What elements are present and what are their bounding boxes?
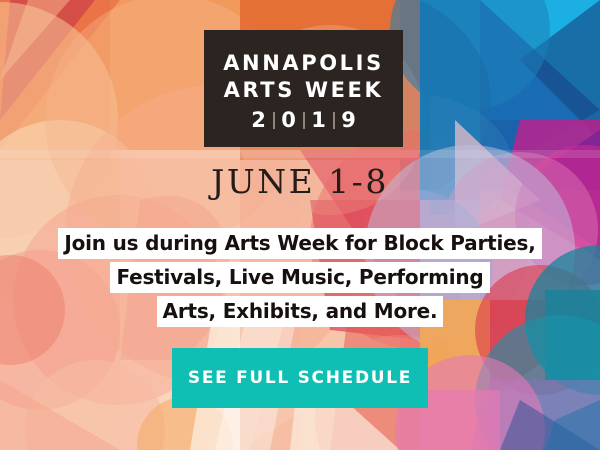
description-line: Arts, Exhibits, and More.	[0, 296, 600, 327]
logo-year: 2 0 1 9	[245, 110, 363, 131]
logo-year-digit-2: 0	[275, 110, 303, 131]
event-date: JUNE 1-8	[0, 162, 600, 201]
logo-title-line-1: ANNAPOLIS	[223, 50, 384, 77]
event-logo-lockup: ANNAPOLIS ARTS WEEK 2 0 1 9	[204, 30, 403, 147]
logo-year-digit-3: 1	[305, 110, 333, 131]
event-description: Join us during Arts Week for Block Parti…	[0, 228, 600, 330]
description-line-text: Festivals, Live Music, Performing	[110, 262, 489, 293]
see-full-schedule-label: SEE FULL SCHEDULE	[188, 368, 412, 388]
description-line: Join us during Arts Week for Block Parti…	[0, 228, 600, 259]
logo-year-digit-1: 2	[245, 110, 273, 131]
description-line-text: Arts, Exhibits, and More.	[157, 296, 444, 327]
description-line-text: Join us during Arts Week for Block Parti…	[58, 228, 541, 259]
logo-title-line-2: ARTS WEEK	[224, 77, 384, 104]
poster-content: ANNAPOLIS ARTS WEEK 2 0 1 9 JUNE 1-8 Joi…	[0, 0, 600, 450]
description-line: Festivals, Live Music, Performing	[0, 262, 600, 293]
logo-year-digit-4: 9	[335, 110, 363, 131]
poster-root: ANNAPOLIS ARTS WEEK 2 0 1 9 JUNE 1-8 Joi…	[0, 0, 600, 450]
see-full-schedule-button[interactable]: SEE FULL SCHEDULE	[172, 348, 428, 408]
